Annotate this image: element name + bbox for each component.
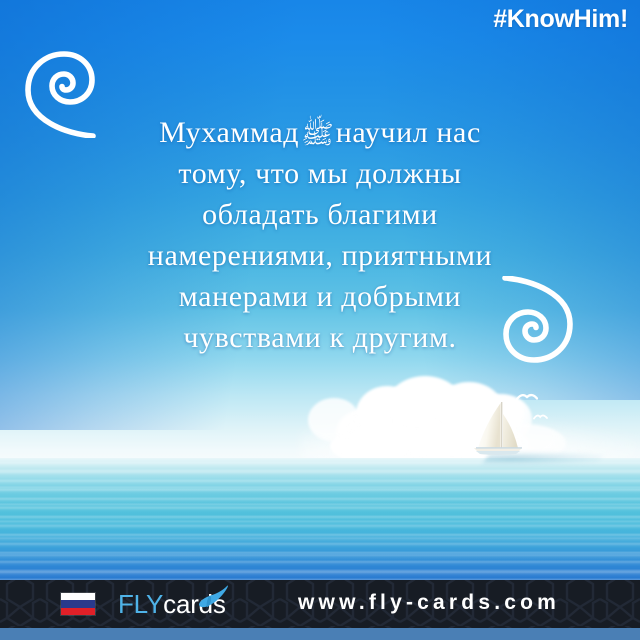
russia-flag-icon — [60, 592, 96, 616]
sea-streaks-secondary — [0, 458, 640, 580]
footer-bar: FLYcards www.fly-cards.com — [0, 580, 640, 628]
quote-line-1-after: научил нас — [336, 116, 481, 149]
bottom-accent-strip — [0, 628, 640, 640]
website-url[interactable]: www.fly-cards.com — [298, 591, 560, 615]
quote-text: Мухаммадﷺнаучил нас тому, что мы должны … — [34, 112, 606, 358]
sea-background — [0, 458, 640, 580]
quote-line-1-before: Мухаммад — [159, 116, 299, 149]
hashtag-label: #KnowHim! — [493, 5, 628, 34]
quote-line-2: тому, что мы должны — [178, 157, 461, 190]
logo-fly-text: FLY — [118, 589, 163, 619]
quote-line-6: чувствами к другим. — [183, 321, 456, 354]
bird-icon — [196, 584, 230, 610]
quote-card: #KnowHim! Мухаммадﷺнаучил нас тому, что … — [0, 0, 640, 640]
pbuh-glyph: ﷺ — [299, 119, 336, 150]
sea-streaks — [0, 458, 640, 580]
quote-line-5: манерами и добрыми — [179, 280, 461, 313]
quote-line-3: обладать благими — [202, 198, 438, 231]
quote-line-4: намерениями, приятными — [148, 239, 492, 272]
